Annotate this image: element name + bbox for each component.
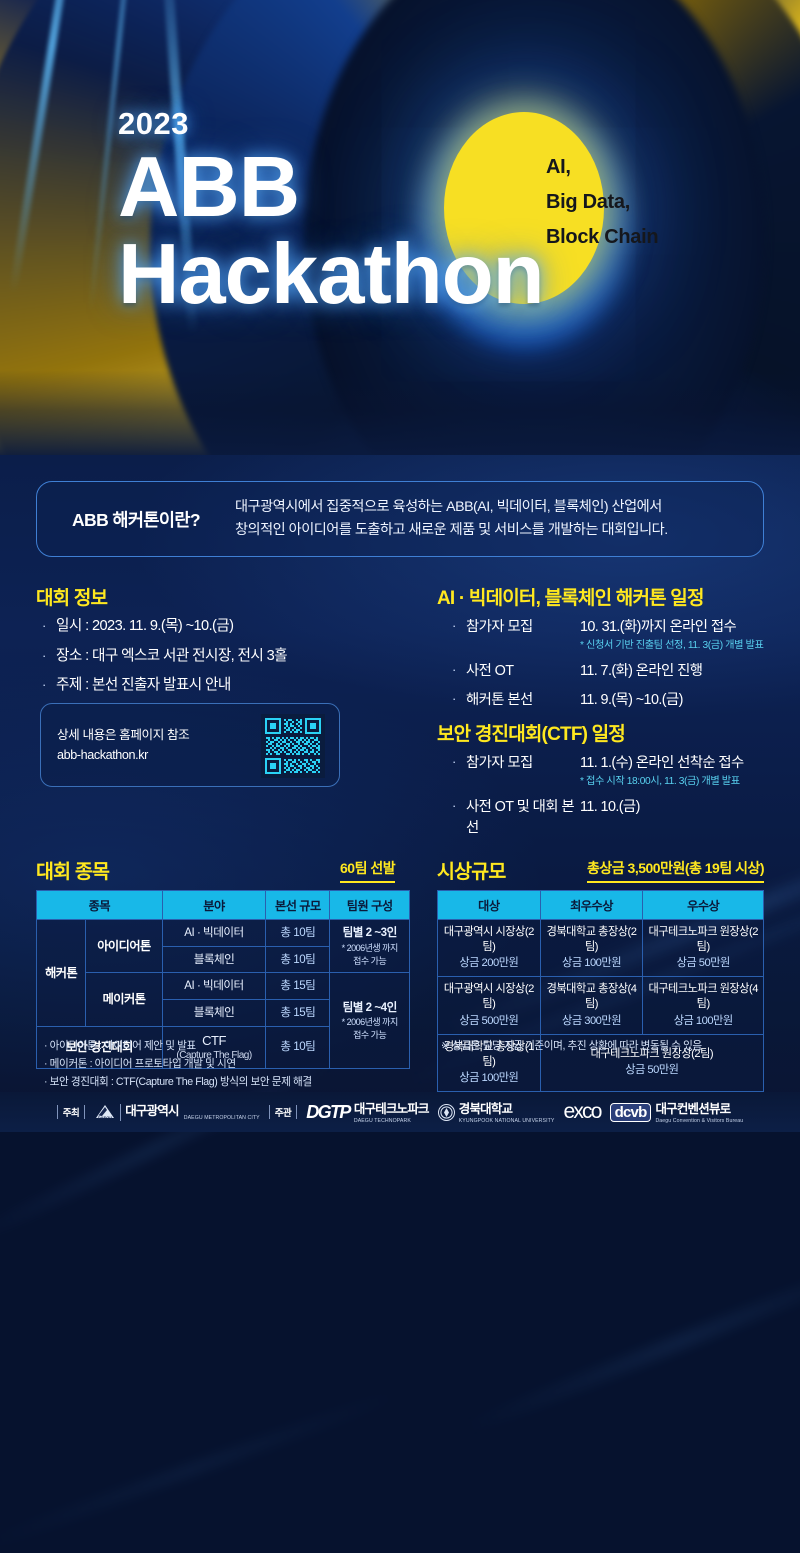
table-row: 메이커톤 AI · 빅데이터 총 15팀 팀별 2 ~4인 * 2006년생 까…	[37, 973, 410, 1000]
team-size-2: 팀별 2 ~4인	[343, 1001, 397, 1014]
categories-note-1: · 메이커톤 : 아이디어 프로토타입 개발 및 시연	[44, 1056, 312, 1074]
daegu-name: 대구광역시	[125, 1105, 179, 1118]
knu-subtitle: KYUNGPOOK NATIONAL UNIVERSITY	[459, 1118, 555, 1124]
logo-dcvb: dcvb 대구컨벤션뷰로 Daegu Convention & Visitors…	[610, 1100, 744, 1124]
ai-schedule-label-1: 사전 OT	[466, 661, 513, 681]
prize-award-1-0: 대구광역시 시장상(2팀)	[441, 982, 537, 1012]
table-row: 해커톤 아이디어톤 AI · 빅데이터 총 10팀 팀별 2 ~3인 * 200…	[37, 920, 410, 947]
ai-schedule-label-2: 해커톤 본선	[466, 690, 533, 710]
ctf-schedule-note-0: * 접수 시작 18:00시, 11. 3(금) 개별 발표	[580, 775, 792, 789]
prizes-heading: 시상규모	[437, 855, 506, 884]
categories-cell-scale-1: 총 10팀	[266, 946, 330, 973]
categories-cell-team-1: 팀별 2 ~4인 * 2006년생 까지 접수 가능	[330, 973, 410, 1068]
ctf-schedule-label-0: 참가자 모집	[466, 753, 533, 789]
homepage-qr-box[interactable]: 상세 내용은 홈페이지 참조 abb-hackathon.kr	[40, 703, 340, 787]
hero-year: 2023	[118, 106, 189, 142]
ctf-schedule-value-0: 11. 1.(수) 온라인 선착순 접수	[580, 755, 744, 771]
categories-header-2: 본선 규모	[266, 891, 330, 920]
categories-cell-team-0: 팀별 2 ~3인 * 2006년생 까지 접수 가능	[330, 920, 410, 973]
dgtp-subtitle: DAEGU TECHNOPARK	[354, 1118, 429, 1124]
intro-box: ABB 해커톤이란? 대구광역시에서 집중적으로 육성하는 ABB(AI, 빅데…	[36, 481, 764, 557]
prizes-header-2: 우수상	[643, 891, 764, 920]
prize-amount-0-0: 상금 200만원	[441, 956, 537, 971]
team-note-1a: * 2006년생 까지	[333, 942, 406, 954]
list-item: ·일시 : 2023. 11. 9.(목) ~10.(금)	[42, 616, 412, 637]
categories-cell-event-hackathon: 해커톤	[37, 920, 86, 1027]
prize-amount-2-0: 상금 100만원	[441, 1071, 537, 1086]
prize-cell-0-2: 대구테크노파크 원장상(2팀) 상금 50만원	[643, 920, 764, 977]
dcvb-mark: dcvb	[610, 1103, 652, 1122]
qr-code-icon[interactable]	[261, 714, 325, 778]
categories-note-0: · 아이디어톤 : 아이디어 제안 및 발표	[44, 1038, 312, 1056]
categories-cell-field-3: 블록체인	[162, 999, 266, 1026]
ai-schedule-list: ·참가자 모집 10. 31.(화)까지 온라인 접수 * 신청서 기반 진출팀…	[452, 617, 792, 718]
intro-body: 대구광역시에서 집중적으로 육성하는 ABB(AI, 빅데이터, 블록체인) 산…	[235, 496, 668, 542]
contest-info-item-0: 일시 : 2023. 11. 9.(목) ~10.(금)	[56, 616, 233, 637]
prize-award-1-2: 대구테크노파크 원장상(4팀)	[646, 982, 760, 1012]
logo-daegu-metropolitan-city: DAEGU 대구광역시	[94, 1104, 179, 1121]
logo-kyungpook-national-university: 경북대학교 KYUNGPOOK NATIONAL UNIVERSITY	[438, 1100, 555, 1124]
prize-cell-1-2: 대구테크노파크 원장상(4팀) 상금 100만원	[643, 977, 764, 1034]
bullet-dot: ·	[452, 661, 466, 681]
knu-name: 경북대학교	[459, 1102, 513, 1116]
prizes-badge: 총상금 3,500만원(총 19팀 시상)	[587, 858, 764, 883]
table-row: 대구광역시 시장상(2팀) 상금 500만원 경북대학교 총장상(4팀) 상금 …	[438, 977, 764, 1034]
bullet-dot: ·	[452, 753, 466, 789]
bullet-dot: ·	[452, 690, 466, 710]
prizes-note: ※ 상금은 팀당 지급 기준이며, 추진 상황에 따라 변동될 수 있음	[441, 1038, 702, 1053]
prize-cell-1-1: 경북대학교 총장상(4팀) 상금 300만원	[540, 977, 643, 1034]
prize-amount-0-1: 상금 100만원	[544, 956, 640, 971]
daegu-subtitle: DAEGU METROPOLITAN CITY	[184, 1115, 260, 1121]
qr-caption: 상세 내용은 홈페이지 참조 abb-hackathon.kr	[57, 725, 189, 765]
organizer-tag: 주관	[269, 1105, 297, 1119]
hero-title: ABB Hackathon	[118, 146, 544, 317]
prize-award-0-0: 대구광역시 시장상(2팀)	[441, 925, 537, 955]
prize-cell-1-0: 대구광역시 시장상(2팀) 상금 500만원	[438, 977, 541, 1034]
categories-heading: 대회 종목	[36, 855, 109, 884]
contest-info-list: ·일시 : 2023. 11. 9.(목) ~10.(금) ·장소 : 대구 엑…	[42, 616, 412, 705]
ai-schedule-value-1: 11. 7.(화) 온라인 진행	[580, 661, 792, 681]
prize-cell-0-0: 대구광역시 시장상(2팀) 상금 200만원	[438, 920, 541, 977]
prize-amount-1-0: 상금 500만원	[441, 1014, 537, 1029]
contest-info-item-2: 주제 : 본선 진출자 발표시 안내	[56, 675, 231, 696]
prize-award-1-1: 경북대학교 총장상(4팀)	[544, 982, 640, 1012]
prize-amount-2-1: 상금 50만원	[544, 1063, 760, 1078]
hero-keyword-1: AI,	[546, 150, 658, 185]
intro-title: ABB 해커톤이란?	[37, 507, 235, 532]
ai-schedule-value-0: 10. 31.(화)까지 온라인 접수	[580, 619, 736, 635]
hero-keyword-2: Big Data,	[546, 185, 658, 220]
hero-title-line2: Hackathon	[118, 233, 544, 316]
ctf-schedule-heading: 보안 경진대회(CTF) 일정	[437, 719, 625, 746]
bullet-dot: ·	[42, 647, 56, 665]
prize-amount-1-2: 상금 100만원	[646, 1014, 760, 1029]
categories-header-1: 분야	[162, 891, 266, 920]
bullet-dot: ·	[42, 617, 56, 635]
team-size-1: 팀별 2 ~3인	[343, 926, 397, 939]
list-item: ·참가자 모집 10. 31.(화)까지 온라인 접수 * 신청서 기반 진출팀…	[452, 617, 792, 653]
contest-info-item-1: 장소 : 대구 엑스코 서관 전시장, 전시 3홀	[56, 646, 287, 667]
list-item: ·사전 OT 11. 7.(화) 온라인 진행	[452, 661, 792, 681]
knu-emblem-icon	[438, 1104, 455, 1121]
categories-cell-scale-2: 총 15팀	[266, 973, 330, 1000]
list-item: ·참가자 모집 11. 1.(수) 온라인 선착순 접수 * 접수 시작 18:…	[452, 753, 792, 789]
dgtp-name: 대구테크노파크	[354, 1102, 429, 1116]
prizes-header-1: 최우수상	[540, 891, 643, 920]
dgtp-mark: DGTP	[306, 1102, 350, 1123]
categories-badge: 60팀 선발	[340, 858, 395, 883]
hero-keyword-3: Block Chain	[546, 220, 658, 255]
bullet-dot: ·	[452, 617, 466, 653]
categories-header-3: 팀원 구성	[330, 891, 410, 920]
svg-text:DAEGU: DAEGU	[98, 1115, 113, 1120]
categories-header-0: 종목	[37, 891, 163, 920]
categories-cell-field-2: AI · 빅데이터	[162, 973, 266, 1000]
dgtp-text: 대구테크노파크 DAEGU TECHNOPARK	[354, 1100, 429, 1124]
categories-cell-type-ideathon: 아이디어톤	[86, 920, 162, 973]
prizes-table: 대상 최우수상 우수상 대구광역시 시장상(2팀) 상금 200만원 경북대학교…	[437, 890, 764, 1092]
ctf-schedule-list: ·참가자 모집 11. 1.(수) 온라인 선착순 접수 * 접수 시작 18:…	[452, 753, 792, 846]
categories-cell-scale-3: 총 15팀	[266, 999, 330, 1026]
list-item: ·사전 OT 및 대회 본선 11. 10.(금)	[452, 797, 792, 837]
categories-cell-type-makeathon: 메이커톤	[86, 973, 162, 1026]
ai-schedule-heading: AI · 빅데이터, 블록체인 해커톤 일정	[437, 583, 704, 610]
prize-cell-0-1: 경북대학교 총장상(2팀) 상금 100만원	[540, 920, 643, 977]
prizes-header-0: 대상	[438, 891, 541, 920]
table-header-row: 종목 분야 본선 규모 팀원 구성	[37, 891, 410, 920]
team-note-1b: 접수 가능	[333, 955, 406, 967]
list-item: ·장소 : 대구 엑스코 서관 전시장, 전시 3홀	[42, 646, 412, 667]
table-header-row: 대상 최우수상 우수상	[438, 891, 764, 920]
prize-award-0-2: 대구테크노파크 원장상(2팀)	[646, 925, 760, 955]
footer-logo-bar: 주최 DAEGU 대구광역시 DAEGU METROPOLITAN CITY 주…	[0, 1092, 800, 1132]
intro-line-2: 창의적인 아이디어를 도출하고 새로운 제품 및 서비스를 개발하는 대회입니다…	[235, 519, 668, 542]
categories-cell-field-1: 블록체인	[162, 946, 266, 973]
knu-text: 경북대학교 KYUNGPOOK NATIONAL UNIVERSITY	[459, 1100, 555, 1124]
categories-note-2: · 보안 경진대회 : CTF(Capture The Flag) 방식의 보안…	[44, 1074, 312, 1092]
ctf-schedule-value-1: 11. 10.(금)	[580, 797, 792, 837]
host-tag: 주최	[57, 1105, 85, 1119]
intro-line-1: 대구광역시에서 집중적으로 육성하는 ABB(AI, 빅데이터, 블록체인) 산…	[235, 496, 668, 519]
ai-schedule-value-2: 11. 9.(목) ~10.(금)	[580, 690, 792, 710]
categories-cell-field-0: AI · 빅데이터	[162, 920, 266, 947]
divider	[120, 1104, 121, 1121]
dcvb-subtitle: Daegu Convention & Visitors Bureau	[655, 1118, 743, 1124]
ctf-schedule-label-1: 사전 OT 및 대회 본선	[466, 797, 580, 837]
categories-cell-scale-0: 총 10팀	[266, 920, 330, 947]
categories-notes: · 아이디어톤 : 아이디어 제안 및 발표 · 메이커톤 : 아이디어 프로토…	[44, 1038, 312, 1091]
dcvb-name: 대구컨벤션뷰로	[655, 1102, 730, 1116]
qr-caption-line1: 상세 내용은 홈페이지 참조	[57, 725, 189, 745]
hero-bottom-fade	[0, 370, 800, 460]
bullet-dot: ·	[452, 797, 466, 837]
team-note-2a: * 2006년생 까지	[333, 1016, 406, 1028]
hero-keywords: AI, Big Data, Block Chain	[546, 150, 658, 255]
qr-caption-line2: abb-hackathon.kr	[57, 745, 189, 765]
logo-exco: exco	[563, 1100, 600, 1124]
contest-info-heading: 대회 정보	[36, 583, 107, 610]
list-item: ·해커톤 본선 11. 9.(목) ~10.(금)	[452, 690, 792, 710]
ai-schedule-label-0: 참가자 모집	[466, 617, 533, 653]
ai-schedule-note-0: * 신청서 기반 진출팀 선정, 11. 3(금) 개별 발표	[580, 639, 792, 653]
bullet-dot: ·	[42, 676, 56, 694]
table-row: 대구광역시 시장상(2팀) 상금 200만원 경북대학교 총장상(2팀) 상금 …	[438, 920, 764, 977]
prize-award-0-1: 경북대학교 총장상(2팀)	[544, 925, 640, 955]
list-item: ·주제 : 본선 진출자 발표시 안내	[42, 675, 412, 696]
dcvb-text: 대구컨벤션뷰로 Daegu Convention & Visitors Bure…	[655, 1100, 743, 1124]
hero-banner: 2023 ABB Hackathon AI, Big Data, Block C…	[0, 0, 800, 460]
logo-daegu-technopark: DGTP 대구테크노파크 DAEGU TECHNOPARK	[306, 1100, 429, 1124]
team-note-2b: 접수 가능	[333, 1029, 406, 1041]
prize-amount-0-2: 상금 50만원	[646, 956, 760, 971]
prize-amount-1-1: 상금 300만원	[544, 1014, 640, 1029]
daegu-emblem-icon: DAEGU	[94, 1104, 116, 1120]
hero-title-line1: ABB	[118, 140, 299, 235]
